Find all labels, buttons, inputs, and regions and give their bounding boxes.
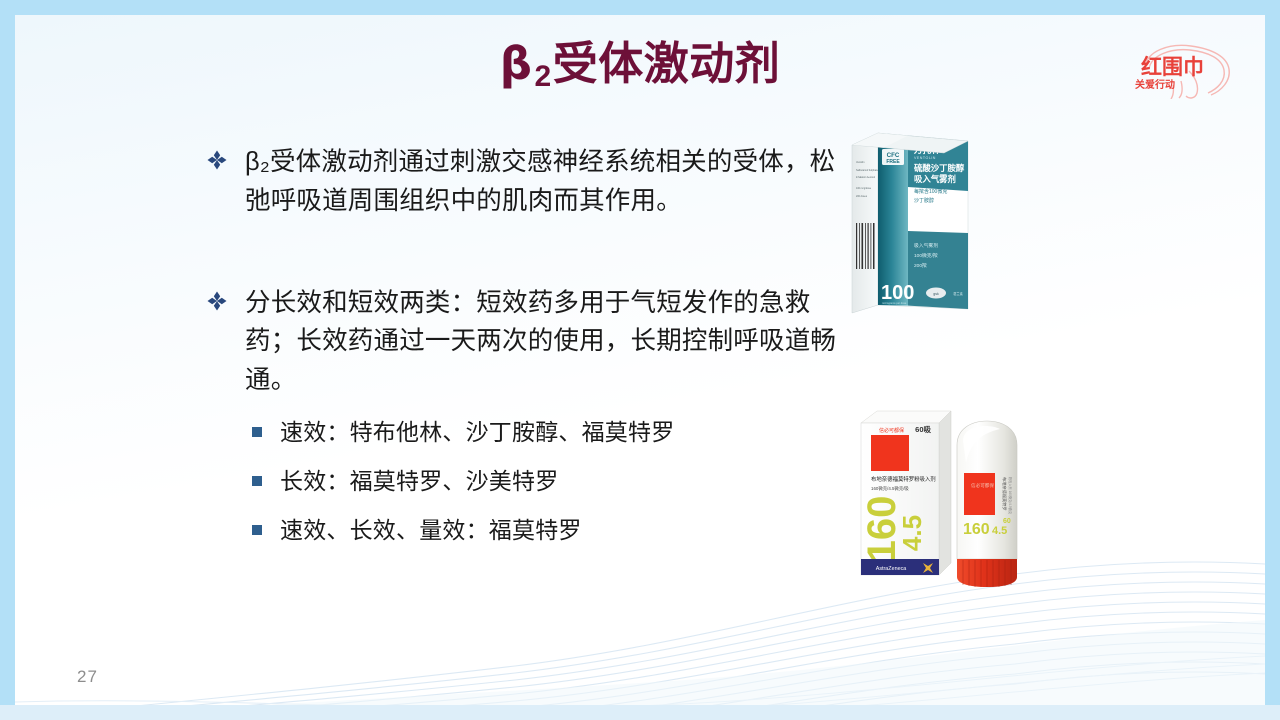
svg-text:100微克/揿: 100微克/揿 <box>914 252 938 259</box>
slide-body-content: β₂受体激动剂通过刺激交感神经系统相关的受体，松弛呼吸道周围组织中的肌肉而其作用… <box>200 143 845 564</box>
slide-root: β2受体激动剂 红围巾 关爱行动 <box>0 0 1280 720</box>
svg-text:CFC: CFC <box>887 152 900 159</box>
svg-text:micrograms per dose: micrograms per dose <box>882 301 907 305</box>
svg-text:每揿含100微克: 每揿含100微克 <box>914 188 947 195</box>
svg-text:信必可都保: 信必可都保 <box>879 427 904 434</box>
list-item-label: 速效、长效、量效：福莫特罗 <box>280 517 582 543</box>
svg-text:200 doses: 200 doses <box>856 195 868 198</box>
title-rest: 受体激动剂 <box>553 38 781 89</box>
svg-text:4.5: 4.5 <box>897 515 927 551</box>
bullet-item: 分长效和短效两类：短效药多用于气短发作的急救药；长效药通过一天两次的使用，长期控… <box>200 284 845 400</box>
svg-text:AstraZeneca: AstraZeneca <box>876 566 907 572</box>
square-bullet-icon <box>252 525 262 535</box>
page-number: 27 <box>77 667 98 687</box>
list-item-label: 长效：福莫特罗、沙美特罗 <box>280 468 558 494</box>
list-item-label: 速效：特布他林、沙丁胺醇、福莫特罗 <box>280 419 674 445</box>
svg-text:160: 160 <box>963 521 990 538</box>
title-beta-symbol: β <box>500 37 533 90</box>
square-bullet-icon <box>252 427 262 437</box>
square-bullet-icon <box>252 476 262 486</box>
bullet-item: β₂受体激动剂通过刺激交感神经系统相关的受体，松弛呼吸道周围组织中的肌肉而其作用… <box>200 143 845 221</box>
content-spacer <box>200 237 845 284</box>
diamond-cluster-icon <box>206 290 228 312</box>
svg-text:FREE: FREE <box>886 159 900 165</box>
svg-text:布地奈德福莫特罗粉吸入剂: 布地奈德福莫特罗粉吸入剂 <box>871 475 936 483</box>
brand-logo: 红围巾 关爱行动 <box>1129 41 1241 99</box>
svg-text:gsk: gsk <box>933 292 939 296</box>
page-title: β2受体激动剂 <box>500 39 780 93</box>
list-item: 长效：福莫特罗、沙美特罗 <box>200 465 845 498</box>
svg-text:葛兰素: 葛兰素 <box>953 291 963 296</box>
svg-text:4.5: 4.5 <box>992 525 1007 537</box>
svg-text:Inhalation Aerosol: Inhalation Aerosol <box>856 176 875 179</box>
list-item: 速效：特布他林、沙丁胺醇、福莫特罗 <box>200 416 845 449</box>
svg-text:200揿: 200揿 <box>914 262 927 269</box>
svg-text:100: 100 <box>881 282 914 304</box>
svg-text:吸入气雾剂: 吸入气雾剂 <box>914 242 938 249</box>
svg-text:Salbutamol Sulphate: Salbutamol Sulphate <box>856 169 879 172</box>
slide-surface: β2受体激动剂 红围巾 关爱行动 <box>15 15 1265 720</box>
page-title-block: β2受体激动剂 <box>15 39 1265 93</box>
product-image-symbicort: 信必可都保 60吸 布地奈德福莫特罗粉吸入剂 160微克/4.5微克/吸 160… <box>851 401 1029 591</box>
svg-text:吸入气雾剂: 吸入气雾剂 <box>914 174 956 184</box>
svg-text:160微克/4.5微克/吸: 160微克/4.5微克/吸 <box>871 485 909 492</box>
bullet-text: 分长效和短效两类：短效药多用于气短发作的急救药；长效药通过一天两次的使用，长期控… <box>245 289 836 395</box>
svg-text:硫酸沙丁胺醇: 硫酸沙丁胺醇 <box>914 163 965 173</box>
diamond-cluster-icon <box>206 149 228 171</box>
logo-tagline-text: 关爱行动 <box>1135 78 1175 91</box>
svg-text:60: 60 <box>1003 518 1011 525</box>
product-image-ventolin: Ventolin Salbutamol Sulphate Inhalation … <box>848 127 972 319</box>
list-item: 速效、长效、量效：福莫特罗 <box>200 514 845 547</box>
svg-text:信必可都保: 信必可都保 <box>971 482 994 489</box>
svg-text:布地奈德福莫特罗: 布地奈德福莫特罗 <box>1001 477 1008 511</box>
svg-text:VENTOLIN: VENTOLIN <box>914 156 936 160</box>
logo-name-text: 红围巾 <box>1141 55 1204 79</box>
svg-text:60吸: 60吸 <box>915 425 931 434</box>
svg-text:100 mcg/dose: 100 mcg/dose <box>856 187 872 190</box>
svg-text:粉吸入剂 160微克/4.5微克: 粉吸入剂 160微克/4.5微克 <box>1008 477 1013 515</box>
svg-text:Ventolin: Ventolin <box>856 161 865 164</box>
title-subscript: 2 <box>535 60 552 93</box>
svg-text:沙丁胺醇: 沙丁胺醇 <box>914 197 934 204</box>
sub-bullet-list: 速效：特布他林、沙丁胺醇、福莫特罗 长效：福莫特罗、沙美特罗 速效、长效、量效：… <box>200 416 845 548</box>
bullet-text: β₂受体激动剂通过刺激交感神经系统相关的受体，松弛呼吸道周围组织中的肌肉而其作用… <box>245 148 835 215</box>
